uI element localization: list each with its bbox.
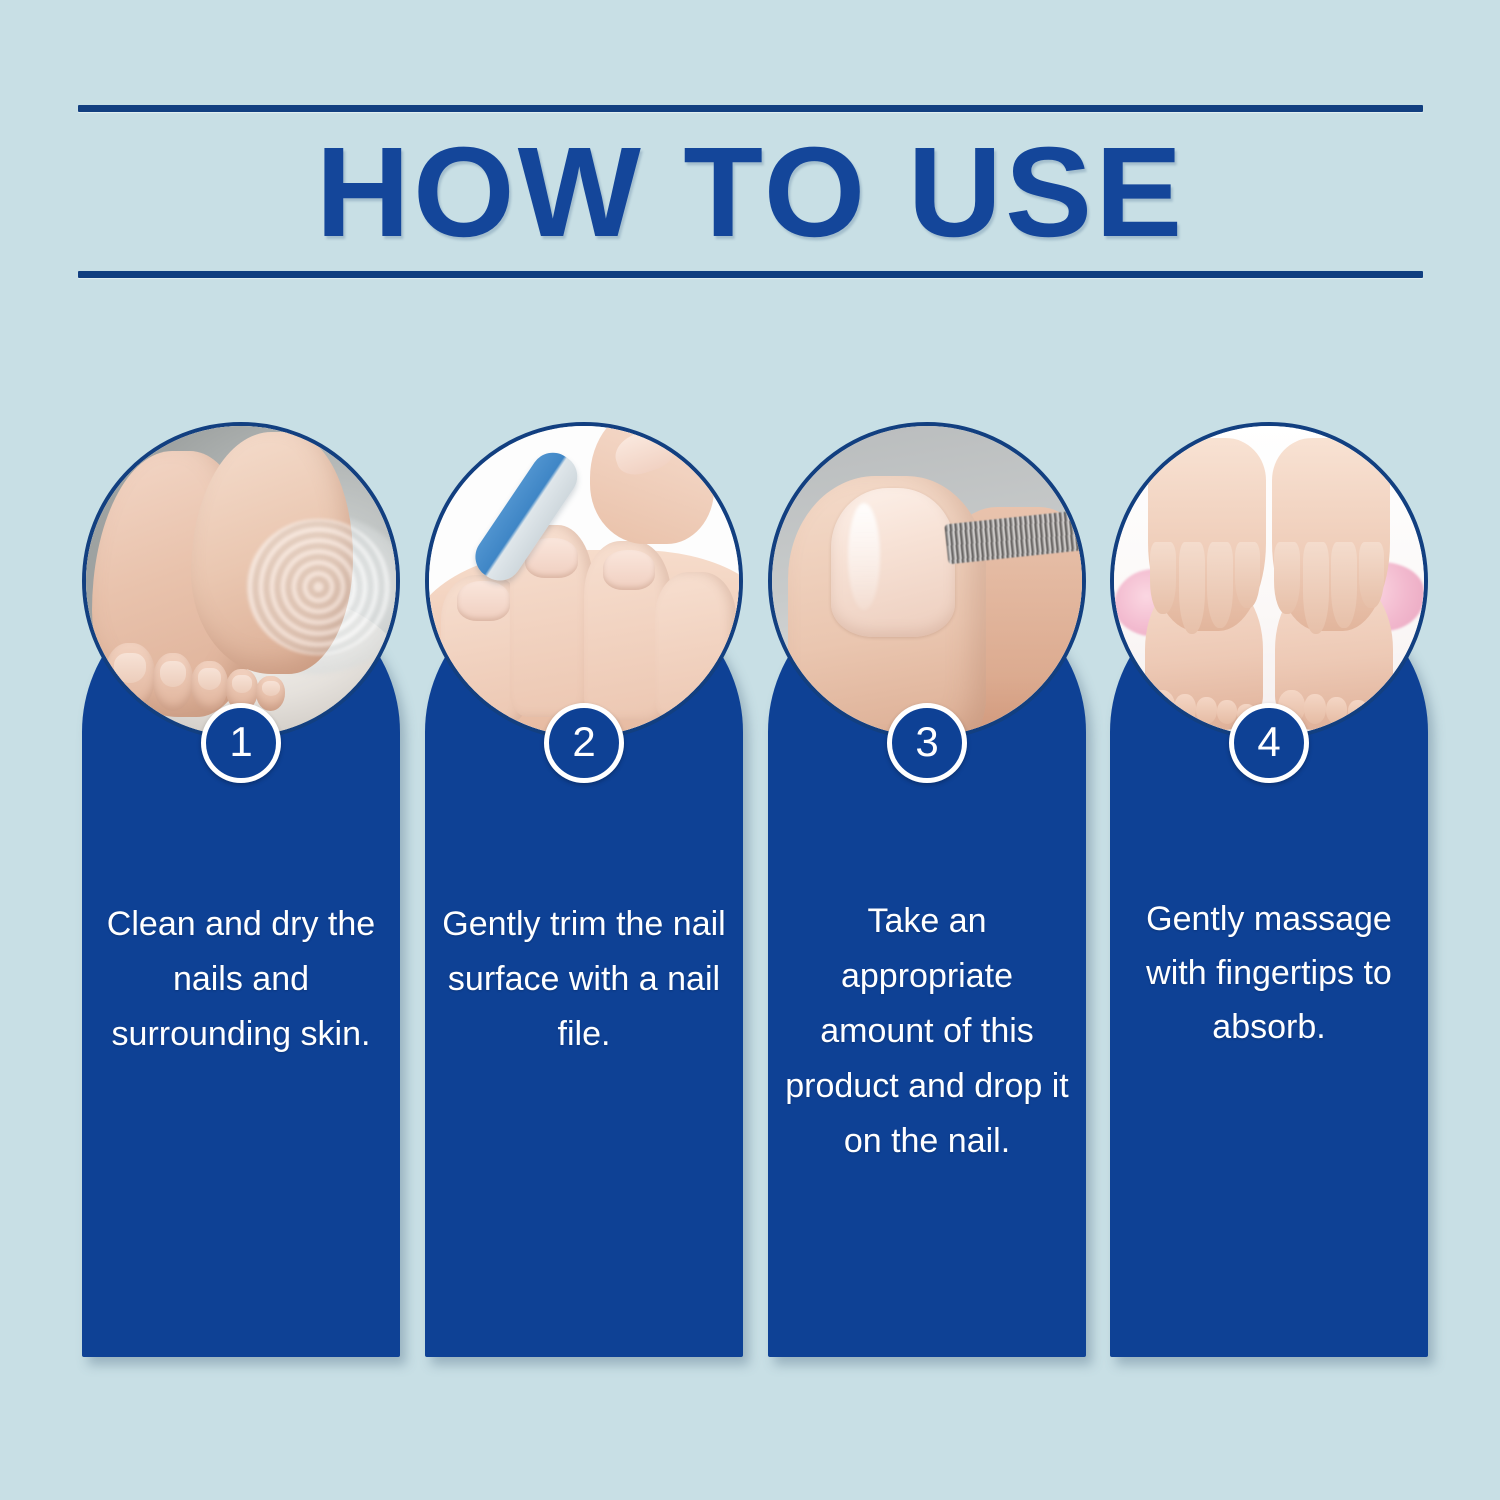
hand-filing-nail-with-nail-file-illustration: [429, 426, 739, 736]
step-image-1: [82, 422, 400, 740]
step-caption-3: Take an appropriate amount of this produ…: [784, 894, 1070, 1169]
step-image-2: [425, 422, 743, 740]
step-number-badge-3: 3: [887, 703, 967, 783]
step-number-badge-1: 1: [201, 703, 281, 783]
step-card-4[interactable]: 4 Gently massage with fingertips to abso…: [1110, 422, 1428, 1357]
step-number-badge-4: 4: [1229, 703, 1309, 783]
step-number-label: 2: [572, 721, 595, 763]
step-card-2[interactable]: 2 Gently trim the nail surface with a na…: [425, 422, 743, 1357]
step-caption-4: Gently massage with fingertips to absorb…: [1126, 892, 1412, 1054]
steps-row: 1 Clean and dry the nails and surroundin…: [82, 422, 1424, 1357]
step-card-3[interactable]: 3 Take an appropriate amount of this pro…: [768, 422, 1086, 1357]
step-number-badge-2: 2: [544, 703, 624, 783]
step-caption-1: Clean and dry the nails and surrounding …: [98, 897, 384, 1062]
step-card-1[interactable]: 1 Clean and dry the nails and surroundin…: [82, 422, 400, 1357]
page-title: HOW TO USE: [65, 118, 1437, 268]
brush-applying-product-to-nail-illustration: [772, 426, 1082, 736]
step-number-label: 1: [229, 721, 252, 763]
step-image-4: [1110, 422, 1428, 740]
step-caption-2: Gently trim the nail surface with a nail…: [441, 897, 727, 1062]
page-header: HOW TO USE: [78, 100, 1423, 282]
hands-massaging-feet-with-flowers-illustration: [1114, 426, 1424, 736]
header-rule-top: [78, 105, 1423, 112]
step-image-3: [768, 422, 1086, 740]
step-number-label: 3: [915, 721, 938, 763]
header-rule-bottom: [78, 271, 1423, 278]
step-number-label: 4: [1257, 721, 1280, 763]
feet-soaking-in-water-basin-illustration: [86, 426, 396, 736]
